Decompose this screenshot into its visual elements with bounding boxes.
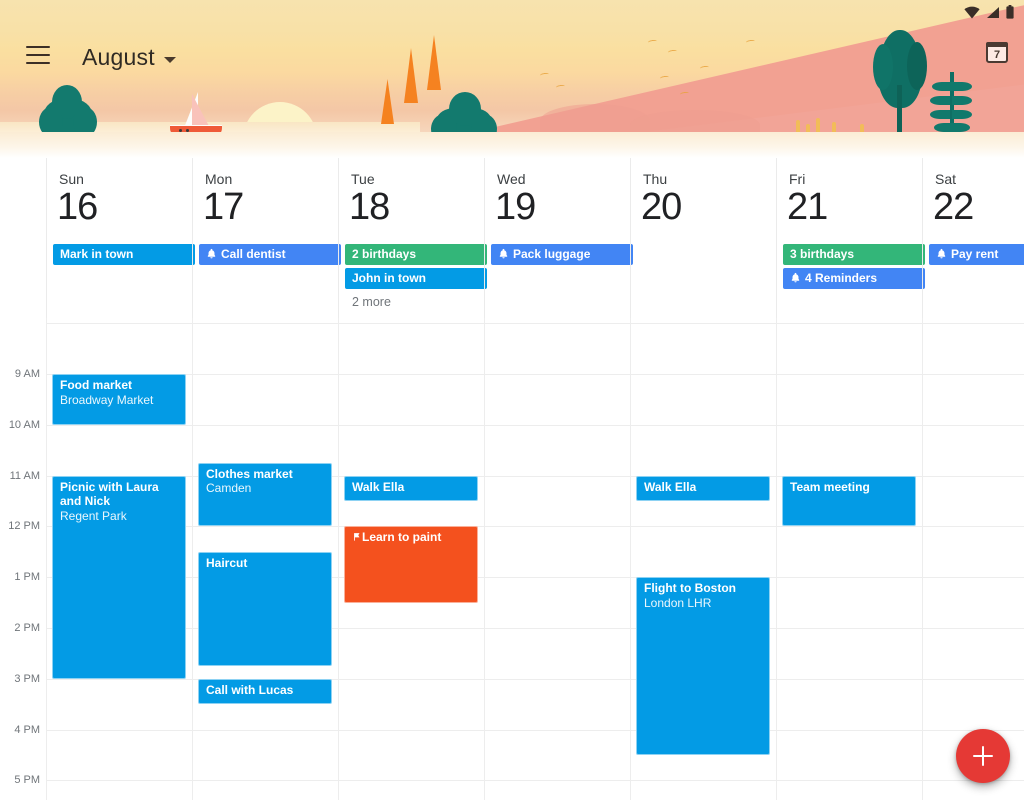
all-day-events: 2 birthdaysJohn in town2 more <box>345 244 487 309</box>
event-title: Clothes market <box>206 467 324 482</box>
event-title: Call with Lucas <box>206 683 324 698</box>
event-location: Camden <box>206 481 324 496</box>
reminder-bell-icon <box>498 248 509 259</box>
calendar-event[interactable]: Call with Lucas <box>198 679 332 704</box>
calendar-event[interactable]: Food marketBroadway Market <box>52 374 186 425</box>
day-gridline <box>338 318 339 800</box>
event-title: Flight to Boston <box>644 581 762 596</box>
event-title: Learn to paint <box>352 530 470 545</box>
all-day-chip-birthday[interactable]: 3 birthdays <box>783 244 925 265</box>
hamburger-menu-icon[interactable] <box>26 46 50 64</box>
time-label: 3 PM <box>14 673 40 685</box>
chip-label: John in town <box>352 271 426 285</box>
day-gridline <box>46 318 47 800</box>
calendar-event[interactable]: Flight to BostonLondon LHR <box>636 577 770 755</box>
day-column-sat[interactable]: Sat22Pay rent <box>922 158 1024 318</box>
calendar-week-view: August 7 Sun16Mark in townMon17Call dent… <box>0 0 1024 800</box>
calendar-event[interactable]: Learn to paint <box>344 526 478 602</box>
all-day-chip-event[interactable]: John in town <box>345 268 487 289</box>
all-day-chip-reminder[interactable]: 4 Reminders <box>783 268 925 289</box>
chip-label: 3 birthdays <box>790 247 854 261</box>
day-column-sun[interactable]: Sun16Mark in town <box>46 158 192 318</box>
today-calendar-button[interactable]: 7 <box>984 40 1010 66</box>
reminder-bell-icon <box>790 272 801 283</box>
status-bar <box>964 5 1014 19</box>
cell-signal-icon <box>986 6 1000 19</box>
day-number[interactable]: 17 <box>203 186 243 229</box>
day-gridline <box>922 318 923 800</box>
day-of-week-label: Sat <box>935 171 956 187</box>
time-label: 12 PM <box>8 520 40 532</box>
more-events-link[interactable]: 2 more <box>345 292 487 309</box>
calendar-event[interactable]: Haircut <box>198 552 332 666</box>
calendar-event[interactable]: Walk Ella <box>636 476 770 501</box>
day-gridline <box>192 318 193 800</box>
event-title: Walk Ella <box>644 480 762 495</box>
all-day-events: Call dentist <box>199 244 341 268</box>
event-location: Regent Park <box>60 509 178 524</box>
goal-flag-icon <box>352 531 362 542</box>
day-column-wed[interactable]: Wed19Pack luggage <box>484 158 630 318</box>
calendar-event[interactable]: Team meeting <box>782 476 916 527</box>
chevron-down-icon <box>164 57 176 63</box>
day-column-mon[interactable]: Mon17Call dentist <box>192 158 338 318</box>
day-of-week-label: Fri <box>789 171 805 187</box>
day-column-tue[interactable]: Tue182 birthdaysJohn in town2 more <box>338 158 484 318</box>
day-of-week-label: Thu <box>643 171 667 187</box>
time-grid: 9 AM10 AM11 AM12 PM1 PM2 PM3 PM4 PM5 PM … <box>0 318 1024 800</box>
time-label: 11 AM <box>10 470 40 482</box>
time-label: 1 PM <box>14 571 40 583</box>
day-number[interactable]: 18 <box>349 186 389 229</box>
day-number[interactable]: 20 <box>641 186 681 229</box>
all-day-events: Pay rent <box>929 244 1024 268</box>
all-day-chip-reminder[interactable]: Pay rent <box>929 244 1024 265</box>
wifi-icon <box>964 6 980 19</box>
event-title: Picnic with Laura and Nick <box>60 480 178 509</box>
day-number[interactable]: 21 <box>787 186 827 229</box>
day-gridline <box>776 318 777 800</box>
chip-label: 4 Reminders <box>805 271 877 285</box>
today-date-number: 7 <box>988 49 1006 62</box>
day-of-week-label: Mon <box>205 171 232 187</box>
event-title: Walk Ella <box>352 480 470 495</box>
time-gutter: 9 AM10 AM11 AM12 PM1 PM2 PM3 PM4 PM5 PM <box>0 318 46 800</box>
event-location: Broadway Market <box>60 393 178 408</box>
event-title: Team meeting <box>790 480 908 495</box>
time-label: 4 PM <box>14 724 40 736</box>
calendar-icon: 7 <box>986 42 1008 63</box>
chip-label: Call dentist <box>221 247 286 261</box>
time-label: 2 PM <box>14 622 40 634</box>
calendar-event[interactable]: Walk Ella <box>344 476 478 501</box>
sand-band <box>0 132 1024 158</box>
day-column-thu[interactable]: Thu20 <box>630 158 776 318</box>
all-day-events: Mark in town <box>53 244 195 268</box>
app-bar: August 7 <box>0 0 1024 86</box>
chip-label: Mark in town <box>60 247 133 261</box>
reminder-bell-icon <box>936 248 947 259</box>
time-label: 10 AM <box>9 419 40 431</box>
day-number[interactable]: 22 <box>933 186 973 229</box>
day-column-fri[interactable]: Fri213 birthdays4 Reminders <box>776 158 922 318</box>
day-of-week-label: Sun <box>59 171 84 187</box>
all-day-chip-birthday[interactable]: 2 birthdays <box>345 244 487 265</box>
day-gridline <box>484 318 485 800</box>
day-number[interactable]: 19 <box>495 186 535 229</box>
time-label: 9 AM <box>15 368 40 380</box>
all-day-events: 3 birthdays4 Reminders <box>783 244 925 292</box>
event-title: Haircut <box>206 556 324 571</box>
time-label: 5 PM <box>14 774 40 786</box>
day-of-week-label: Tue <box>351 171 375 187</box>
day-of-week-label: Wed <box>497 171 526 187</box>
battery-icon <box>1006 5 1014 19</box>
chip-label: Pay rent <box>951 247 998 261</box>
all-day-chip-reminder[interactable]: Pack luggage <box>491 244 633 265</box>
reminder-bell-icon <box>206 248 217 259</box>
page-title: August <box>82 44 155 71</box>
chip-label: 2 birthdays <box>352 247 416 261</box>
all-day-events: Pack luggage <box>491 244 633 268</box>
month-title-dropdown[interactable]: August <box>82 44 176 71</box>
chip-label: Pack luggage <box>513 247 590 261</box>
all-day-chip-event[interactable]: Mark in town <box>53 244 195 265</box>
calendar-event[interactable]: Clothes marketCamden <box>198 463 332 527</box>
calendar-event[interactable]: Picnic with Laura and NickRegent Park <box>52 476 186 679</box>
event-title: Food market <box>60 378 178 393</box>
day-header-row: Sun16Mark in townMon17Call dentistTue182… <box>0 158 1024 318</box>
event-location: London LHR <box>644 596 762 611</box>
day-gridline <box>630 318 631 800</box>
day-number[interactable]: 16 <box>57 186 97 229</box>
create-event-fab[interactable] <box>956 729 1010 783</box>
all-day-chip-reminder[interactable]: Call dentist <box>199 244 341 265</box>
